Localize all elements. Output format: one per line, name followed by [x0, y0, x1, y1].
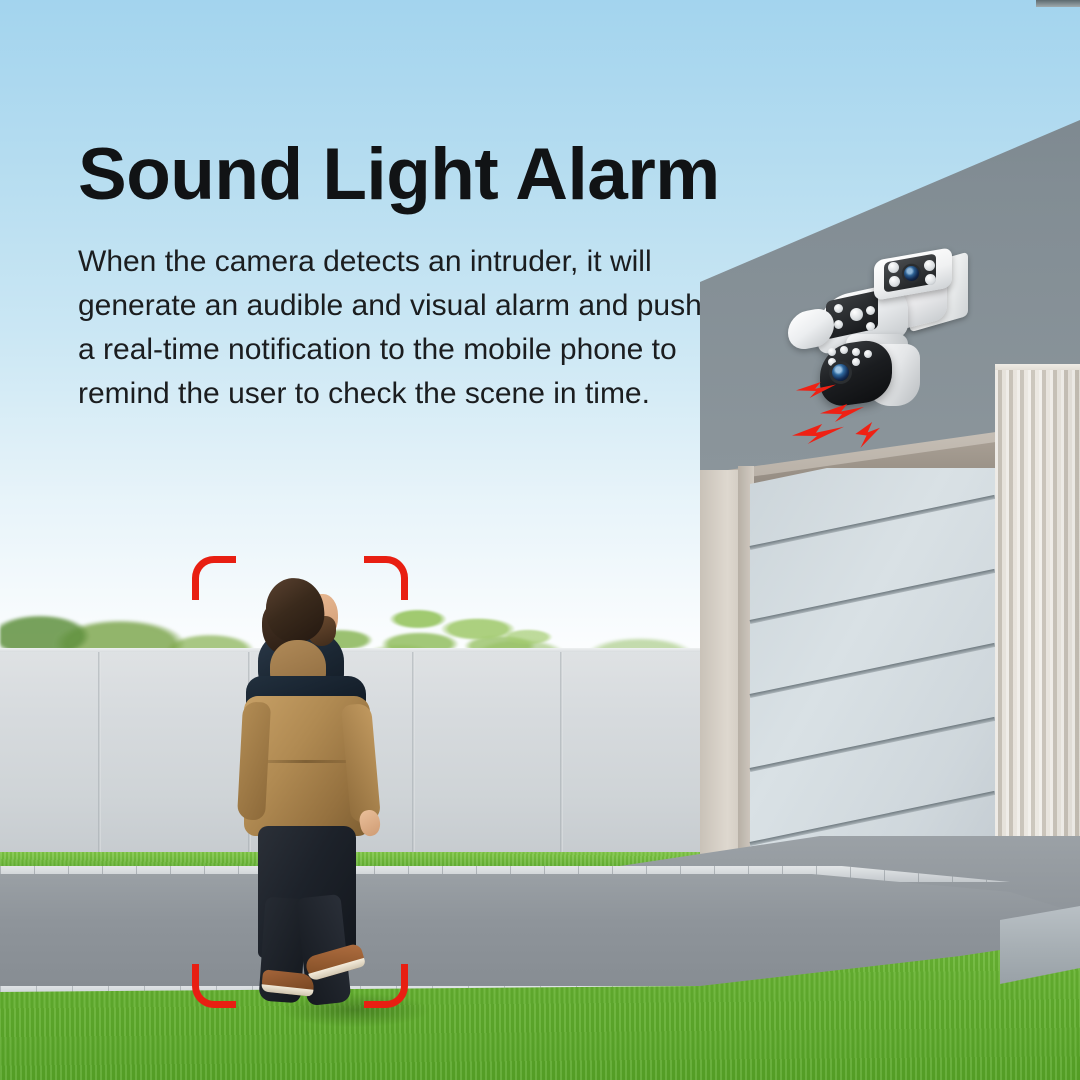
product-feature-banner: Sound Light Alarm When the camera detect…	[0, 0, 1080, 1080]
dome-led-icon	[840, 346, 848, 354]
alarm-bolt-icon	[820, 404, 864, 422]
dome-led-icon	[852, 358, 860, 366]
spotlight-led-icon	[889, 276, 900, 287]
ir-led-icon	[866, 322, 875, 331]
spotlight-led-icon	[888, 262, 899, 273]
jacket-waist-seam	[252, 760, 360, 763]
dome-led-icon	[864, 350, 872, 358]
garage-door	[750, 468, 1000, 894]
roof-edge-sliver	[1036, 0, 1080, 7]
alarm-bolt-icon	[852, 422, 880, 448]
slatted-side-wall	[995, 370, 1080, 900]
alarm-bolt-icon	[792, 424, 844, 444]
alarm-bolt-icon	[796, 382, 836, 398]
ir-led-icon	[834, 304, 843, 313]
spotlight-led-icon	[925, 274, 936, 285]
wall-seam	[560, 648, 563, 858]
dome-led-icon	[828, 348, 836, 356]
ir-led-icon	[834, 320, 843, 329]
ir-sensor-icon	[850, 308, 863, 321]
dome-led-icon	[852, 348, 860, 356]
wall-seam	[98, 648, 101, 858]
page-title: Sound Light Alarm	[78, 137, 818, 214]
alarm-sound-waves	[792, 378, 902, 456]
description-text: When the camera detects an intruder, it …	[78, 240, 718, 416]
top-lens-icon	[904, 266, 919, 281]
spotlight-led-icon	[924, 260, 935, 271]
ir-led-icon	[866, 306, 875, 315]
intruder-figure	[228, 578, 418, 988]
